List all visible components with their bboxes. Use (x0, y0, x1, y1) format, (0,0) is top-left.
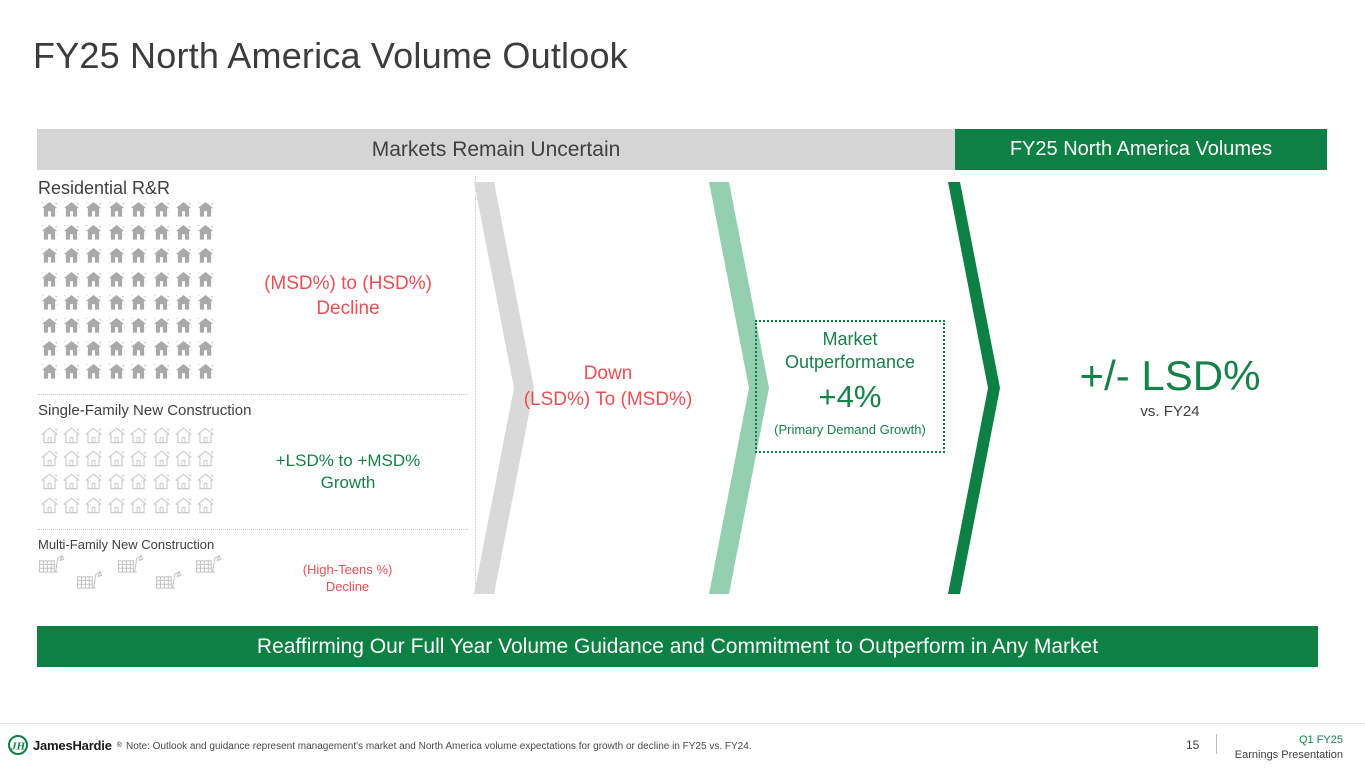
house-outline-icon (38, 494, 60, 517)
header-markets-uncertain: Markets Remain Uncertain (37, 129, 955, 170)
house-filled-icon (150, 360, 172, 383)
house-filled-icon (172, 291, 194, 314)
building-crane-icon (155, 569, 185, 600)
house-outline-icon (38, 470, 60, 493)
james-hardie-monogram-icon: JH (8, 735, 28, 755)
header-right-label: FY25 North America Volumes (1010, 138, 1272, 161)
house-filled-icon (60, 244, 82, 267)
house-outline-icon (105, 447, 127, 470)
house-filled-icon (172, 314, 194, 337)
house-filled-icon (150, 268, 172, 291)
house-filled-icon (60, 337, 82, 360)
house-outline-icon (38, 424, 60, 447)
house-filled-icon (128, 244, 150, 267)
house-filled-icon (83, 198, 105, 221)
house-outline-icon (128, 470, 150, 493)
house-outline-icon (83, 424, 105, 447)
house-filled-icon (172, 198, 194, 221)
house-filled-icon (195, 337, 217, 360)
house-filled-icon (60, 314, 82, 337)
house-filled-icon (105, 268, 127, 291)
footer-presentation-label: Earnings Presentation (1235, 748, 1343, 763)
house-filled-icon (60, 268, 82, 291)
house-filled-icon (83, 244, 105, 267)
house-filled-icon (105, 291, 127, 314)
building-crane-icon (117, 553, 147, 584)
house-outline-icon (172, 447, 194, 470)
section-divider-2 (38, 529, 468, 530)
house-outline-icon (150, 470, 172, 493)
house-outline-icon (128, 494, 150, 517)
market-down-text: Down (LSD%) To (MSD%) (508, 361, 708, 412)
house-filled-icon (172, 244, 194, 267)
house-filled-icon (150, 198, 172, 221)
house-filled-icon (38, 244, 60, 267)
house-filled-icon (38, 198, 60, 221)
result-value: +/- LSD% (1020, 352, 1320, 400)
guidance-banner: Reaffirming Our Full Year Volume Guidanc… (37, 626, 1318, 667)
house-outline-icon (60, 470, 82, 493)
house-filled-icon (172, 221, 194, 244)
house-filled-icon (105, 337, 127, 360)
house-outline-icon (83, 470, 105, 493)
svg-text:JH: JH (10, 741, 26, 753)
building-crane-icon (38, 553, 68, 584)
slide: FY25 North America Volume Outlook Market… (0, 0, 1365, 768)
house-filled-icon (128, 360, 150, 383)
segment-label-multi-family: Multi-Family New Construction (38, 537, 214, 552)
house-filled-icon (150, 221, 172, 244)
house-filled-icon (60, 221, 82, 244)
multi-family-value: (High-Teens %) Decline (255, 562, 440, 596)
footnote: Note: Outlook and guidance represent man… (126, 741, 752, 752)
house-outline-icon (60, 447, 82, 470)
house-filled-icon (195, 291, 217, 314)
house-filled-icon (105, 198, 127, 221)
house-filled-icon (83, 221, 105, 244)
house-filled-icon (83, 337, 105, 360)
house-filled-icon (38, 337, 60, 360)
house-outline-icon (105, 470, 127, 493)
house-filled-icon (60, 198, 82, 221)
house-filled-icon (38, 314, 60, 337)
house-filled-icon (150, 244, 172, 267)
house-outline-icon (150, 424, 172, 447)
house-filled-icon (172, 268, 194, 291)
house-filled-icon (150, 314, 172, 337)
page-number: 15 (1186, 738, 1199, 752)
house-outline-icon (105, 424, 127, 447)
house-filled-icon (83, 360, 105, 383)
house-outline-icon (60, 494, 82, 517)
house-filled-icon (38, 268, 60, 291)
house-outline-icon (195, 447, 217, 470)
market-outperformance-subtitle: (Primary Demand Growth) (774, 422, 926, 437)
header-fy25-volumes: FY25 North America Volumes (955, 129, 1327, 170)
house-filled-icon (60, 360, 82, 383)
market-outperformance-title: Market Outperformance (785, 328, 915, 373)
footer-separator (1216, 734, 1217, 754)
house-filled-icon (195, 360, 217, 383)
house-outline-icon (150, 447, 172, 470)
house-outline-icon (83, 447, 105, 470)
footer-presentation-info: Q1 FY25 Earnings Presentation (1235, 733, 1343, 763)
house-filled-icon (83, 291, 105, 314)
house-filled-icon (195, 244, 217, 267)
chevron-dark-green (946, 182, 1008, 594)
company-logo-text: JamesHardie (33, 738, 112, 753)
house-filled-icon (128, 221, 150, 244)
house-filled-icon (150, 337, 172, 360)
residential-rr-value: (MSD%) to (HSD%) Decline (248, 272, 448, 321)
house-filled-icon (128, 314, 150, 337)
house-filled-icon (38, 360, 60, 383)
house-outline-icon (128, 447, 150, 470)
house-filled-icon (172, 360, 194, 383)
building-crane-icon (76, 569, 106, 600)
logo-trademark: ® (117, 742, 122, 749)
house-filled-icon (195, 221, 217, 244)
house-outline-icon (195, 494, 217, 517)
house-filled-icon (150, 291, 172, 314)
house-filled-icon (195, 268, 217, 291)
page-title: FY25 North America Volume Outlook (33, 35, 628, 77)
footer-divider (0, 723, 1365, 724)
house-filled-icon (105, 314, 127, 337)
guidance-banner-text: Reaffirming Our Full Year Volume Guidanc… (257, 635, 1098, 659)
house-outline-icon (128, 424, 150, 447)
house-filled-icon (128, 337, 150, 360)
market-outperformance-value: +4% (819, 379, 882, 415)
house-filled-icon (195, 198, 217, 221)
house-outline-icon (150, 494, 172, 517)
single-family-icon-grid (38, 424, 217, 517)
segment-label-residential-rr: Residential R&R (38, 178, 170, 199)
house-outline-icon (172, 470, 194, 493)
house-outline-icon (172, 494, 194, 517)
house-filled-icon (105, 360, 127, 383)
house-filled-icon (128, 198, 150, 221)
house-outline-icon (38, 447, 60, 470)
house-filled-icon (83, 314, 105, 337)
footer-quarter: Q1 FY25 (1235, 733, 1343, 748)
house-filled-icon (38, 291, 60, 314)
house-outline-icon (195, 470, 217, 493)
single-family-value: +LSD% to +MSD% Growth (248, 450, 448, 494)
house-filled-icon (105, 221, 127, 244)
house-outline-icon (83, 494, 105, 517)
market-outperformance-box: Market Outperformance +4% (Primary Deman… (755, 320, 945, 453)
house-outline-icon (172, 424, 194, 447)
house-filled-icon (128, 291, 150, 314)
building-crane-icon (195, 553, 225, 584)
company-logo: JH JamesHardie ® (8, 735, 122, 755)
residential-rr-icon-grid (38, 198, 217, 384)
house-filled-icon (83, 268, 105, 291)
house-filled-icon (60, 291, 82, 314)
section-divider-1 (38, 394, 468, 395)
result-comparison: vs. FY24 (1020, 403, 1320, 420)
segment-label-single-family: Single-Family New Construction (38, 402, 251, 419)
house-filled-icon (195, 314, 217, 337)
house-filled-icon (172, 337, 194, 360)
house-outline-icon (195, 424, 217, 447)
multi-family-icon-group (38, 553, 268, 599)
house-outline-icon (105, 494, 127, 517)
house-outline-icon (60, 424, 82, 447)
house-filled-icon (105, 244, 127, 267)
header-left-label: Markets Remain Uncertain (372, 138, 621, 162)
house-filled-icon (38, 221, 60, 244)
house-filled-icon (128, 268, 150, 291)
